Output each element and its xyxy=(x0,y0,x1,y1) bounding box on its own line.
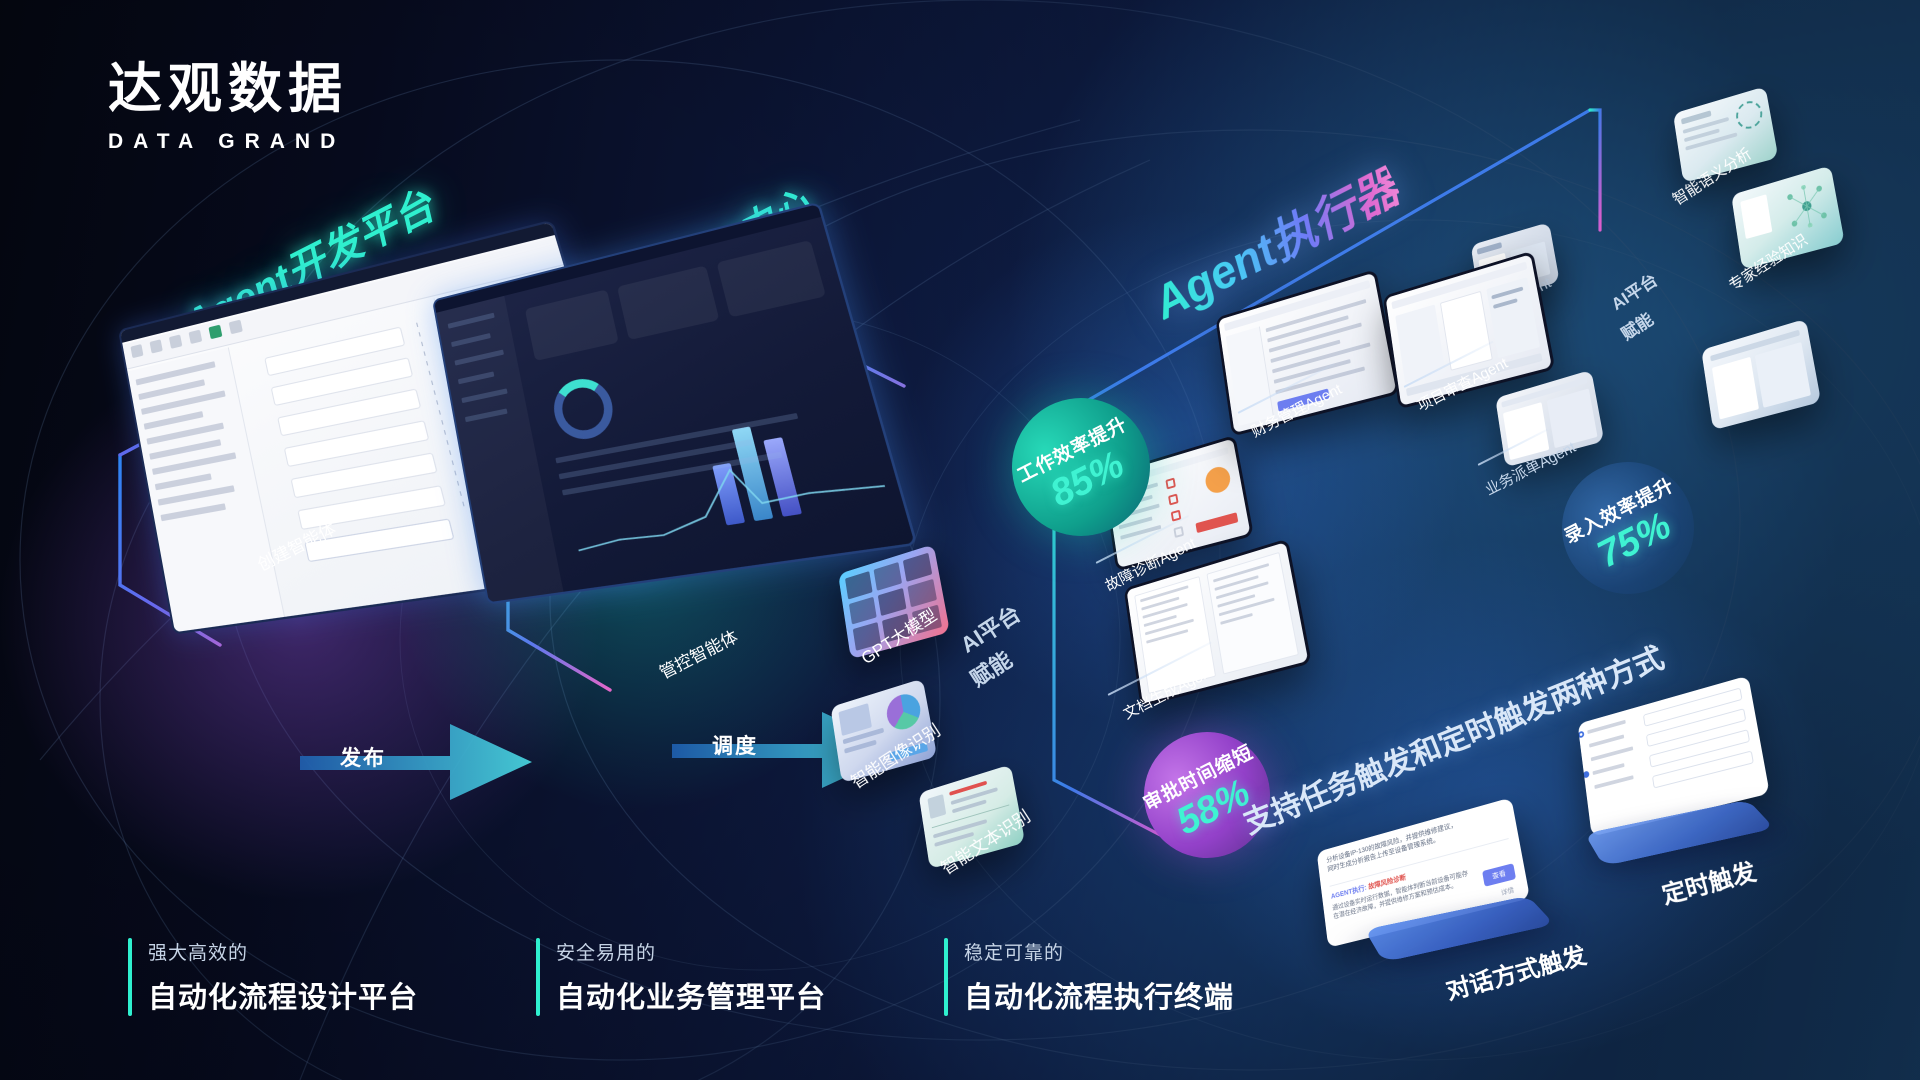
caption-main-3: 自动化流程执行终端 xyxy=(964,974,1234,1016)
caption-sub-3: 稳定可靠的 xyxy=(964,938,1234,965)
caption-main-1: 自动化流程设计平台 xyxy=(148,974,418,1016)
caption-accent-bar-3 xyxy=(944,938,948,1016)
caption-item-1: 强大高效的 自动化流程设计平台 xyxy=(128,938,418,1016)
caption-item-2: 安全易用的 自动化业务管理平台 xyxy=(536,938,826,1016)
caption-main-2: 自动化业务管理平台 xyxy=(556,974,826,1016)
caption-sub-2: 安全易用的 xyxy=(556,938,826,965)
caption-accent-bar-2 xyxy=(536,938,540,1016)
caption-sub-1: 强大高效的 xyxy=(148,938,418,965)
chat-trigger-meta: 详情 xyxy=(1500,884,1515,897)
flow-arrow-publish xyxy=(300,700,560,810)
bottom-captions: 强大高效的 自动化流程设计平台 安全易用的 自动化业务管理平台 稳定可靠的 自动… xyxy=(128,938,1234,1016)
flow-arrow2-label: 调度 xyxy=(712,730,758,760)
poster-canvas: 达观数据 DATA GRAND Agent开发平台 xyxy=(0,0,1920,1080)
flow-arrow1-label: 发布 xyxy=(340,742,386,772)
caption-item-3: 稳定可靠的 自动化流程执行终端 xyxy=(944,938,1234,1016)
brand-name-en: DATA GRAND xyxy=(108,130,348,154)
brand-logo: 达观数据 DATA GRAND xyxy=(108,62,348,154)
brand-name-cn: 达观数据 xyxy=(108,62,348,116)
caption-accent-bar-1 xyxy=(128,938,132,1016)
